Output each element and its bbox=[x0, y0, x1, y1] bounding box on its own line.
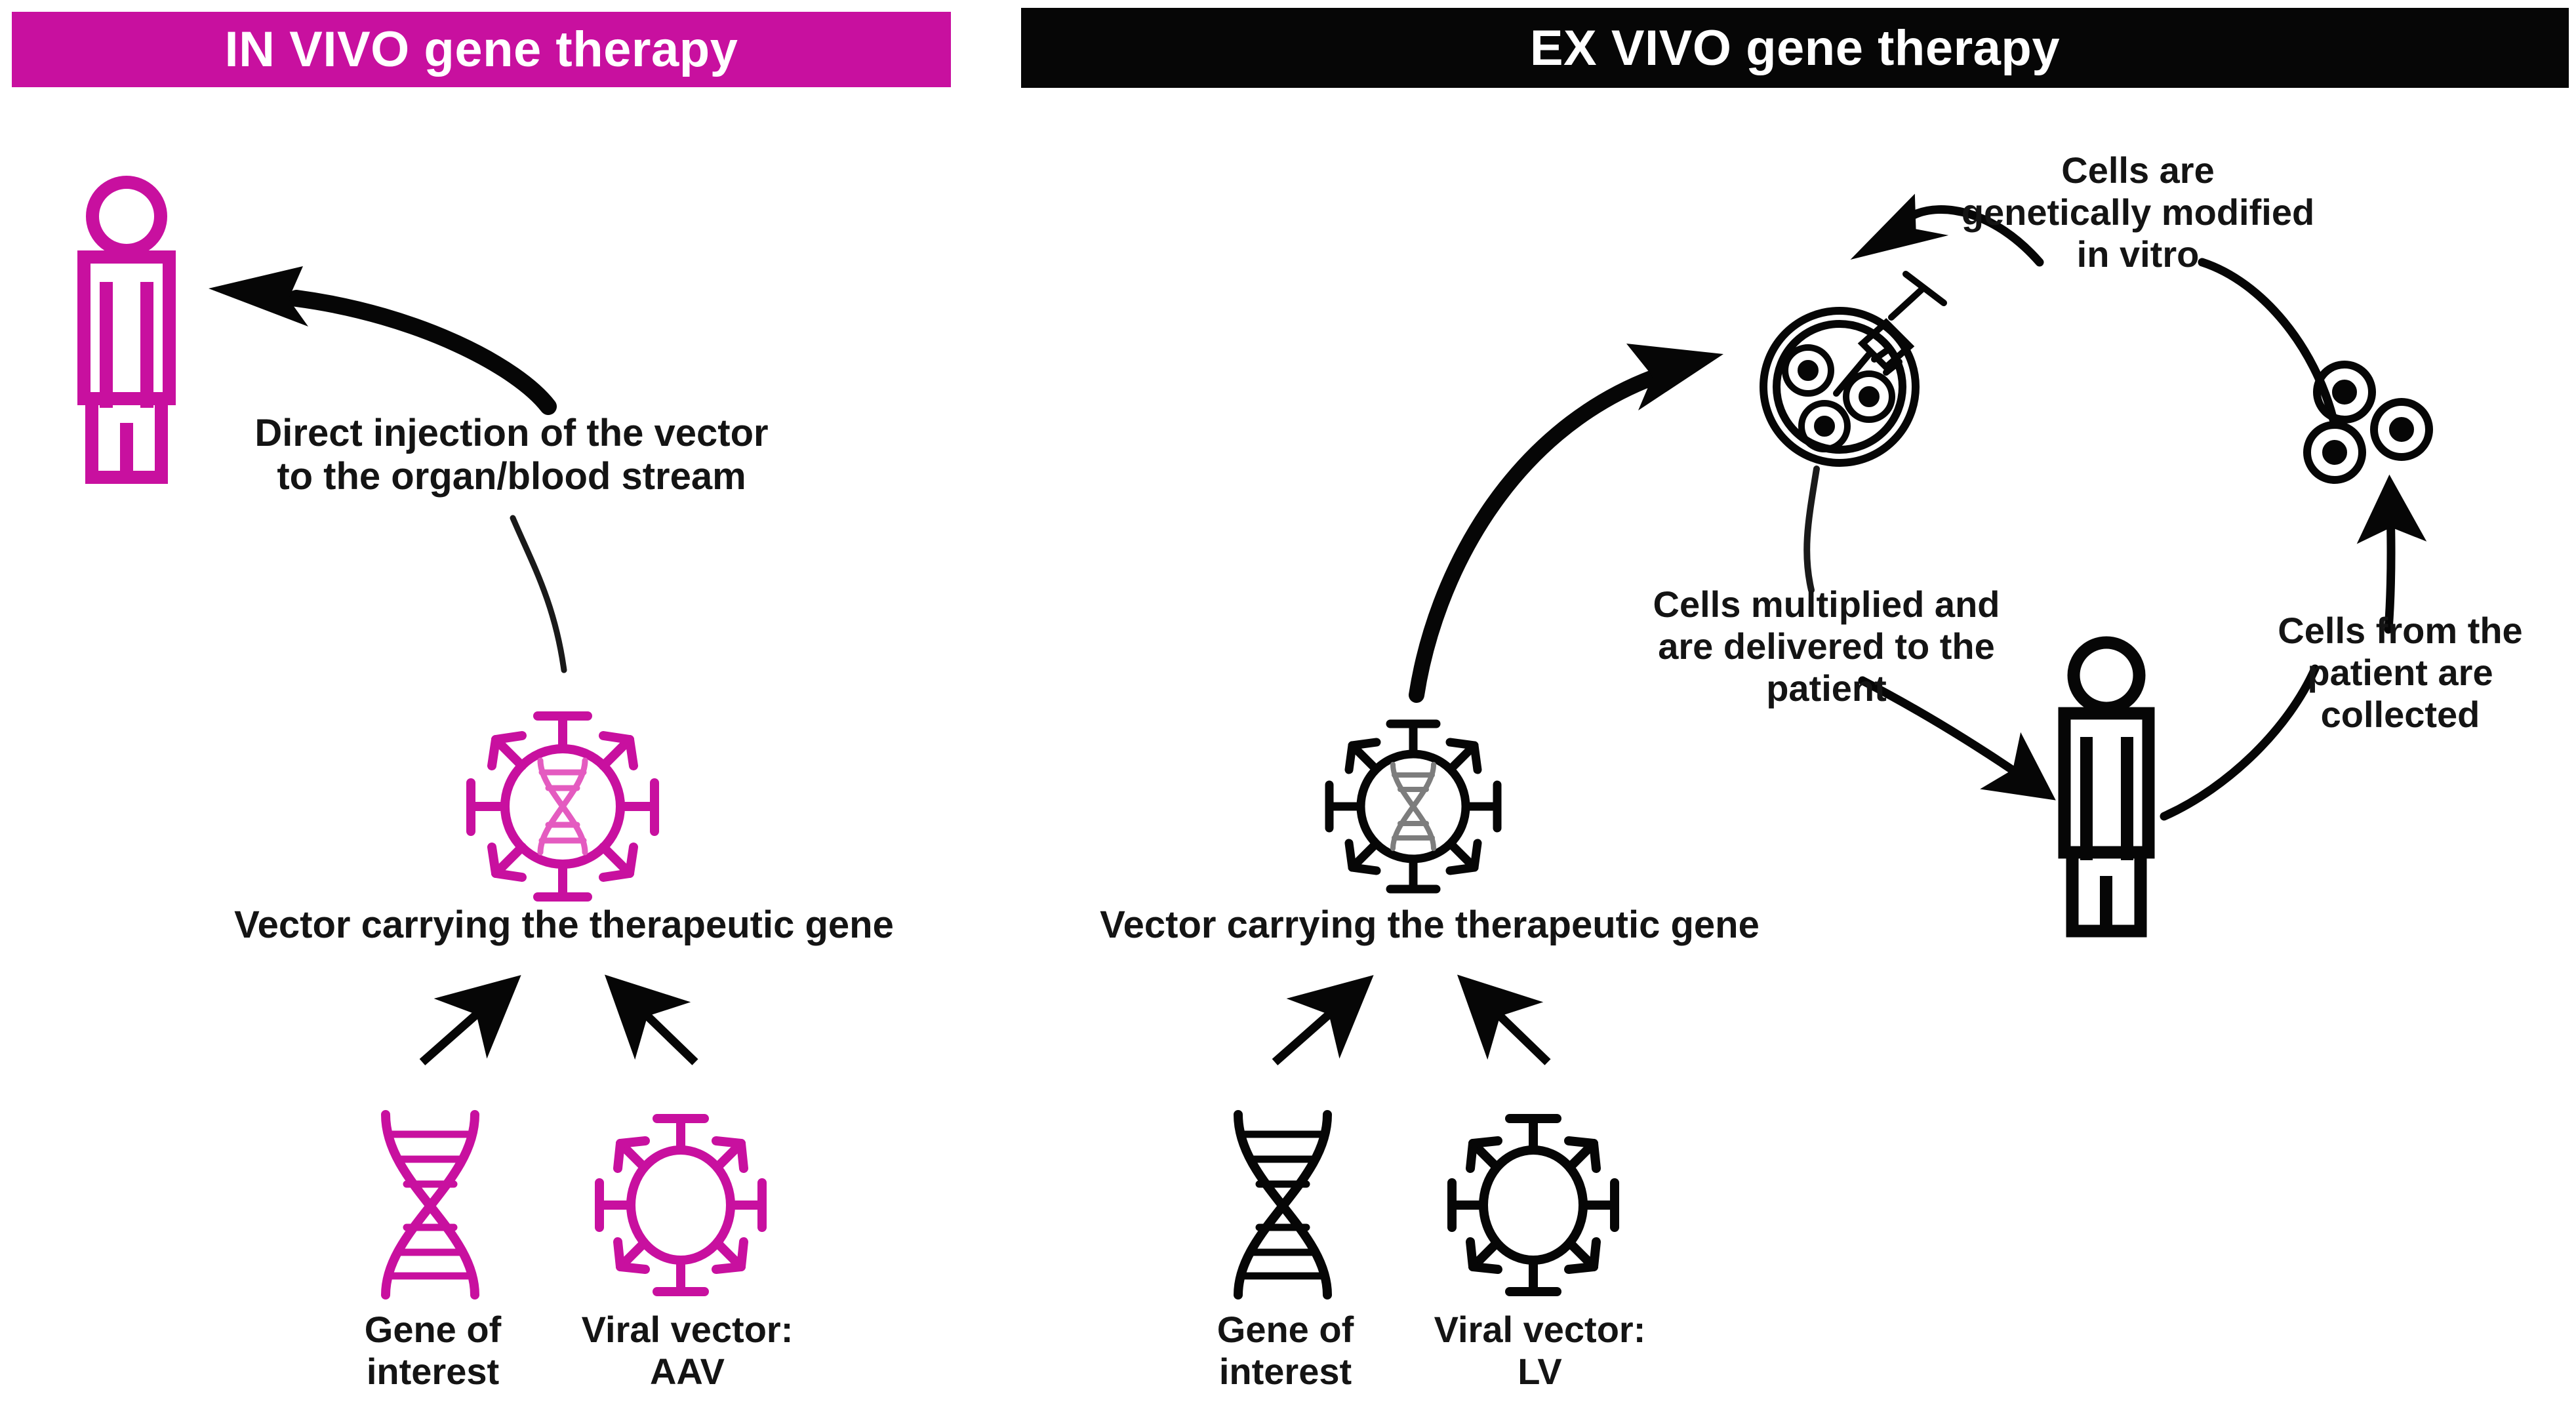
dna-helix-icon-ex-vivo bbox=[1238, 1115, 1327, 1295]
label-vector-carrying-in-vivo: Vector carrying the therapeutic gene bbox=[197, 903, 931, 947]
person-icon-in-vivo bbox=[84, 182, 169, 481]
virus-with-dna-icon-in-vivo bbox=[471, 716, 654, 897]
label-gene-of-interest-ex-vivo: Gene of interest bbox=[1161, 1309, 1410, 1393]
person-icon-ex-vivo bbox=[2064, 643, 2148, 934]
banner-ex-vivo: EX VIVO gene therapy bbox=[1021, 8, 2569, 88]
label-viral-vector-lv: Viral vector: LV bbox=[1415, 1309, 1664, 1393]
input-arrows-in-vivo bbox=[422, 983, 695, 1062]
cell-cluster-icon bbox=[2307, 365, 2429, 480]
collected-to-cells-arrow bbox=[2388, 486, 2391, 629]
gene-therapy-diagram: IN VIVO gene therapy EX VIVO gene therap… bbox=[0, 0, 2576, 1409]
label-cells-genetically-modified: Cells are genetically modified in vitro bbox=[1928, 149, 2348, 275]
label-direct-injection: Direct injection of the vector to the or… bbox=[216, 412, 807, 498]
dish-to-delivered-connector bbox=[1807, 469, 1817, 590]
label-gene-of-interest-in-vivo: Gene of interest bbox=[308, 1309, 557, 1393]
input-arrows-ex-vivo bbox=[1275, 983, 1548, 1062]
virus-icon-ex-vivo bbox=[1452, 1119, 1615, 1292]
virus-with-dna-icon-ex-vivo bbox=[1329, 724, 1497, 889]
label-cells-delivered: Cells multiplied and are delivered to th… bbox=[1633, 584, 2020, 709]
petri-dish-with-syringe-icon bbox=[1763, 274, 1944, 463]
dna-helix-icon-in-vivo bbox=[386, 1115, 475, 1295]
label-viral-vector-aav: Viral vector: AAV bbox=[563, 1309, 812, 1393]
virus-icon-in-vivo bbox=[599, 1119, 762, 1292]
injection-arrow bbox=[209, 266, 548, 407]
label-vector-carrying-ex-vivo: Vector carrying the therapeutic gene bbox=[1062, 903, 1797, 947]
banner-in-vivo: IN VIVO gene therapy bbox=[12, 12, 951, 87]
label-to-vector-connector bbox=[513, 518, 564, 670]
label-cells-collected: Cells from the patient are collected bbox=[2230, 610, 2571, 735]
arc-modified-right bbox=[2202, 262, 2333, 420]
